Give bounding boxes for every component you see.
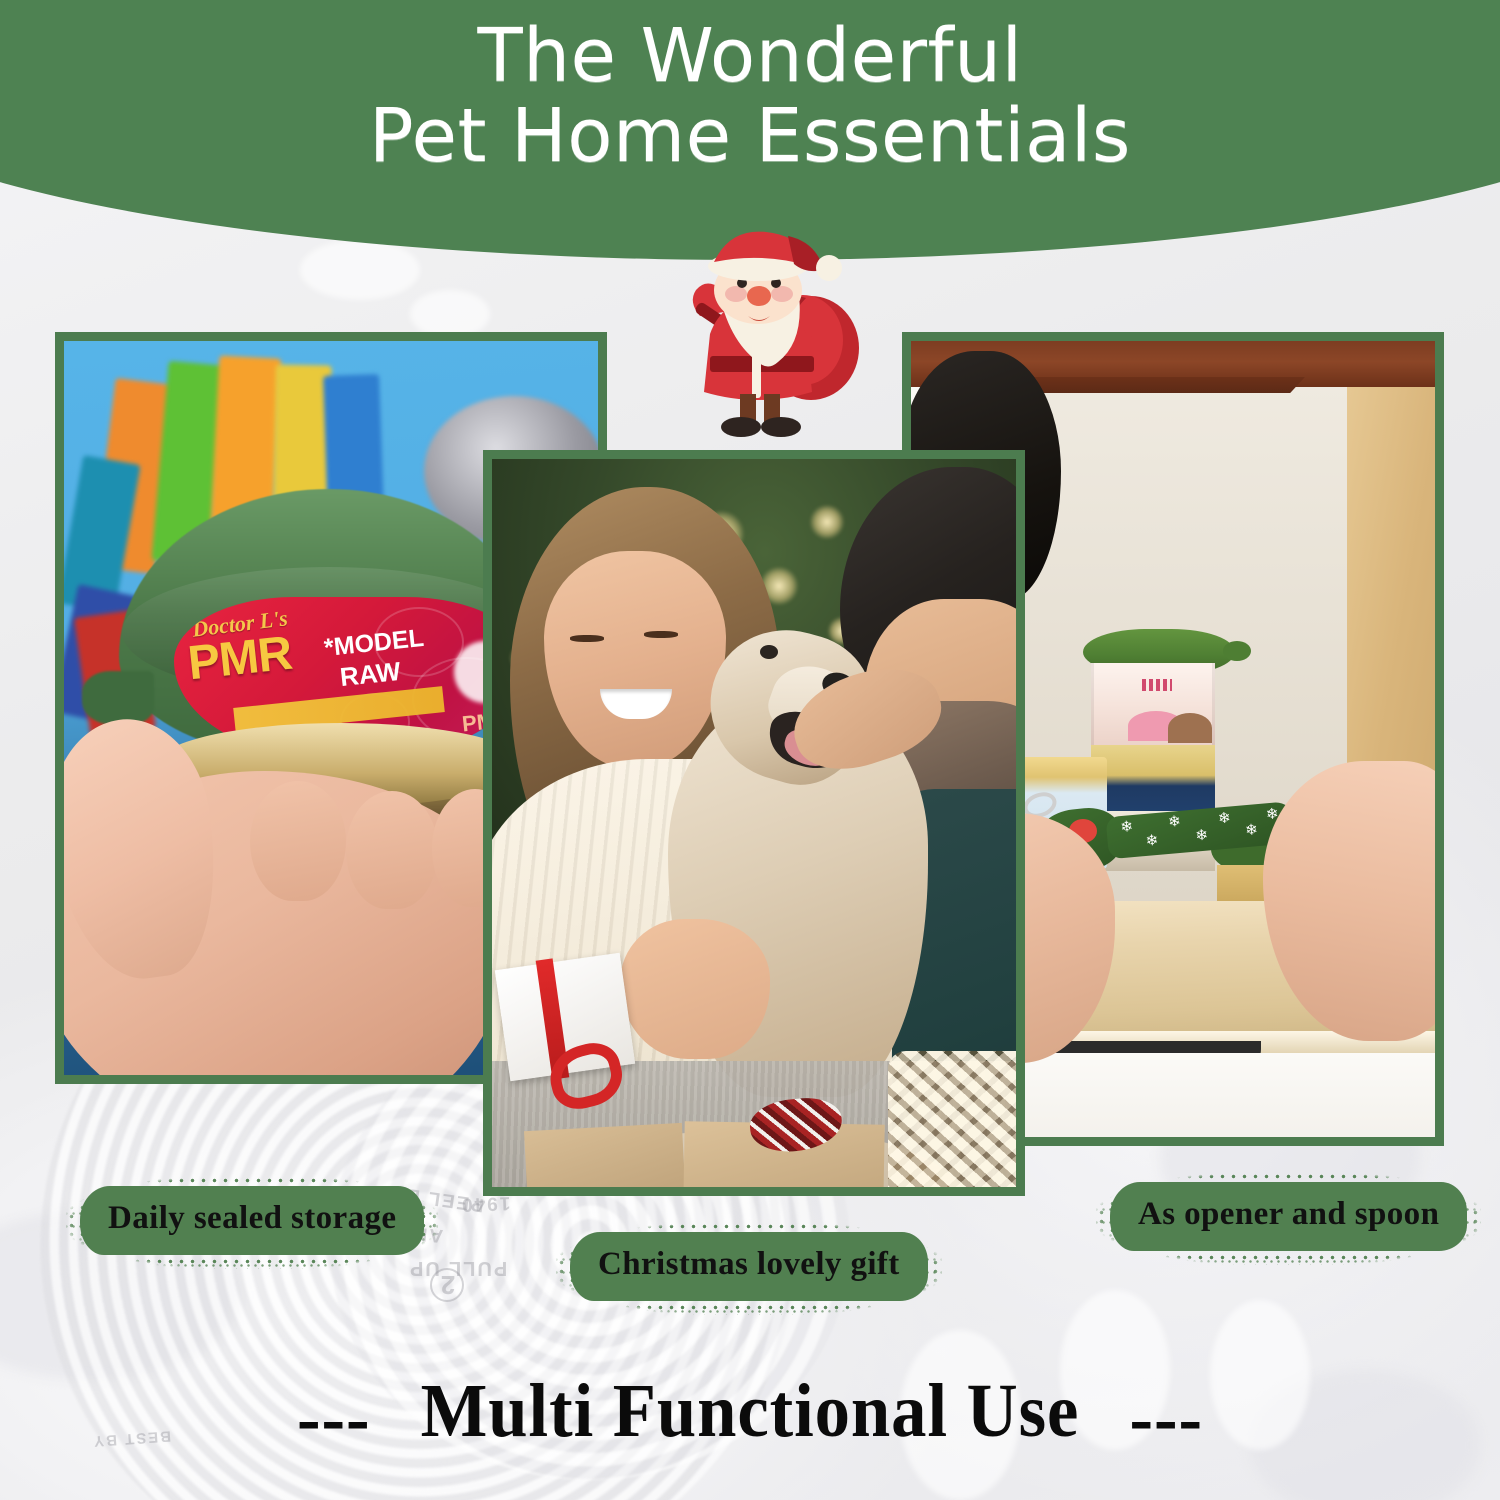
footer-dash-right: --- (1130, 1375, 1203, 1462)
caption-text: Daily sealed storage (108, 1200, 396, 1236)
background-lid-step-number: 2 (430, 1268, 464, 1302)
product-poster: PULL UP AND PEEL B 1940 2 BEST BY The Wo… (0, 0, 1500, 1500)
paw-print-icon (410, 290, 490, 338)
woman-hand (620, 919, 770, 1059)
photo-content (492, 459, 1016, 1187)
footer-dash-left: --- (297, 1375, 370, 1462)
snowflake-icon: ❄ (1195, 828, 1209, 844)
wrapped-present (524, 1123, 686, 1187)
woven-basket (888, 1051, 1016, 1187)
footer-tagline: --- Multi Functional Use --- (53, 1368, 1448, 1462)
caption-text: Christmas lovely gift (598, 1246, 900, 1282)
page-title-line-2: Pet Home Essentials (0, 98, 1500, 174)
can-crown-logo (1142, 679, 1172, 691)
caption-daily-sealed-storage: Daily sealed storage (80, 1186, 424, 1255)
snowflake-icon: ❄ (1145, 833, 1159, 849)
caption-as-opener-and-spoon: As opener and spoon (1110, 1182, 1467, 1251)
hand-finger (250, 781, 346, 901)
caption-text: As opener and spoon (1138, 1196, 1439, 1232)
can-raw-text: RAW (339, 656, 403, 693)
dog-eye (760, 645, 778, 659)
caption-christmas-lovely-gift: Christmas lovely gift (570, 1232, 928, 1301)
lid-pull-tab (82, 671, 154, 725)
photo-christmas-lovely-gift[interactable] (483, 450, 1025, 1196)
can-art-brown (1168, 713, 1212, 743)
tree-light-bokeh (810, 505, 844, 539)
santa-claus-icon (648, 228, 868, 443)
woman-eye (644, 631, 678, 638)
woman-eye (570, 635, 604, 642)
cat-food-can (1091, 663, 1215, 745)
cat-food-can (1091, 745, 1215, 811)
paw-print-icon (300, 240, 420, 300)
page-title: The Wonderful Pet Home Essentials (0, 18, 1500, 174)
snowflake-icon: ❄ (1120, 819, 1134, 835)
snowflake-icon: ❄ (1217, 810, 1231, 826)
page-title-line-1: The Wonderful (477, 13, 1022, 99)
snowflake-icon: ❄ (1168, 814, 1182, 830)
hand-finger (346, 791, 438, 909)
snowflake-icon: ❄ (1245, 822, 1259, 838)
can-product-text: PMR (185, 626, 294, 692)
footer-text: Multi Functional Use (389, 1368, 1111, 1455)
